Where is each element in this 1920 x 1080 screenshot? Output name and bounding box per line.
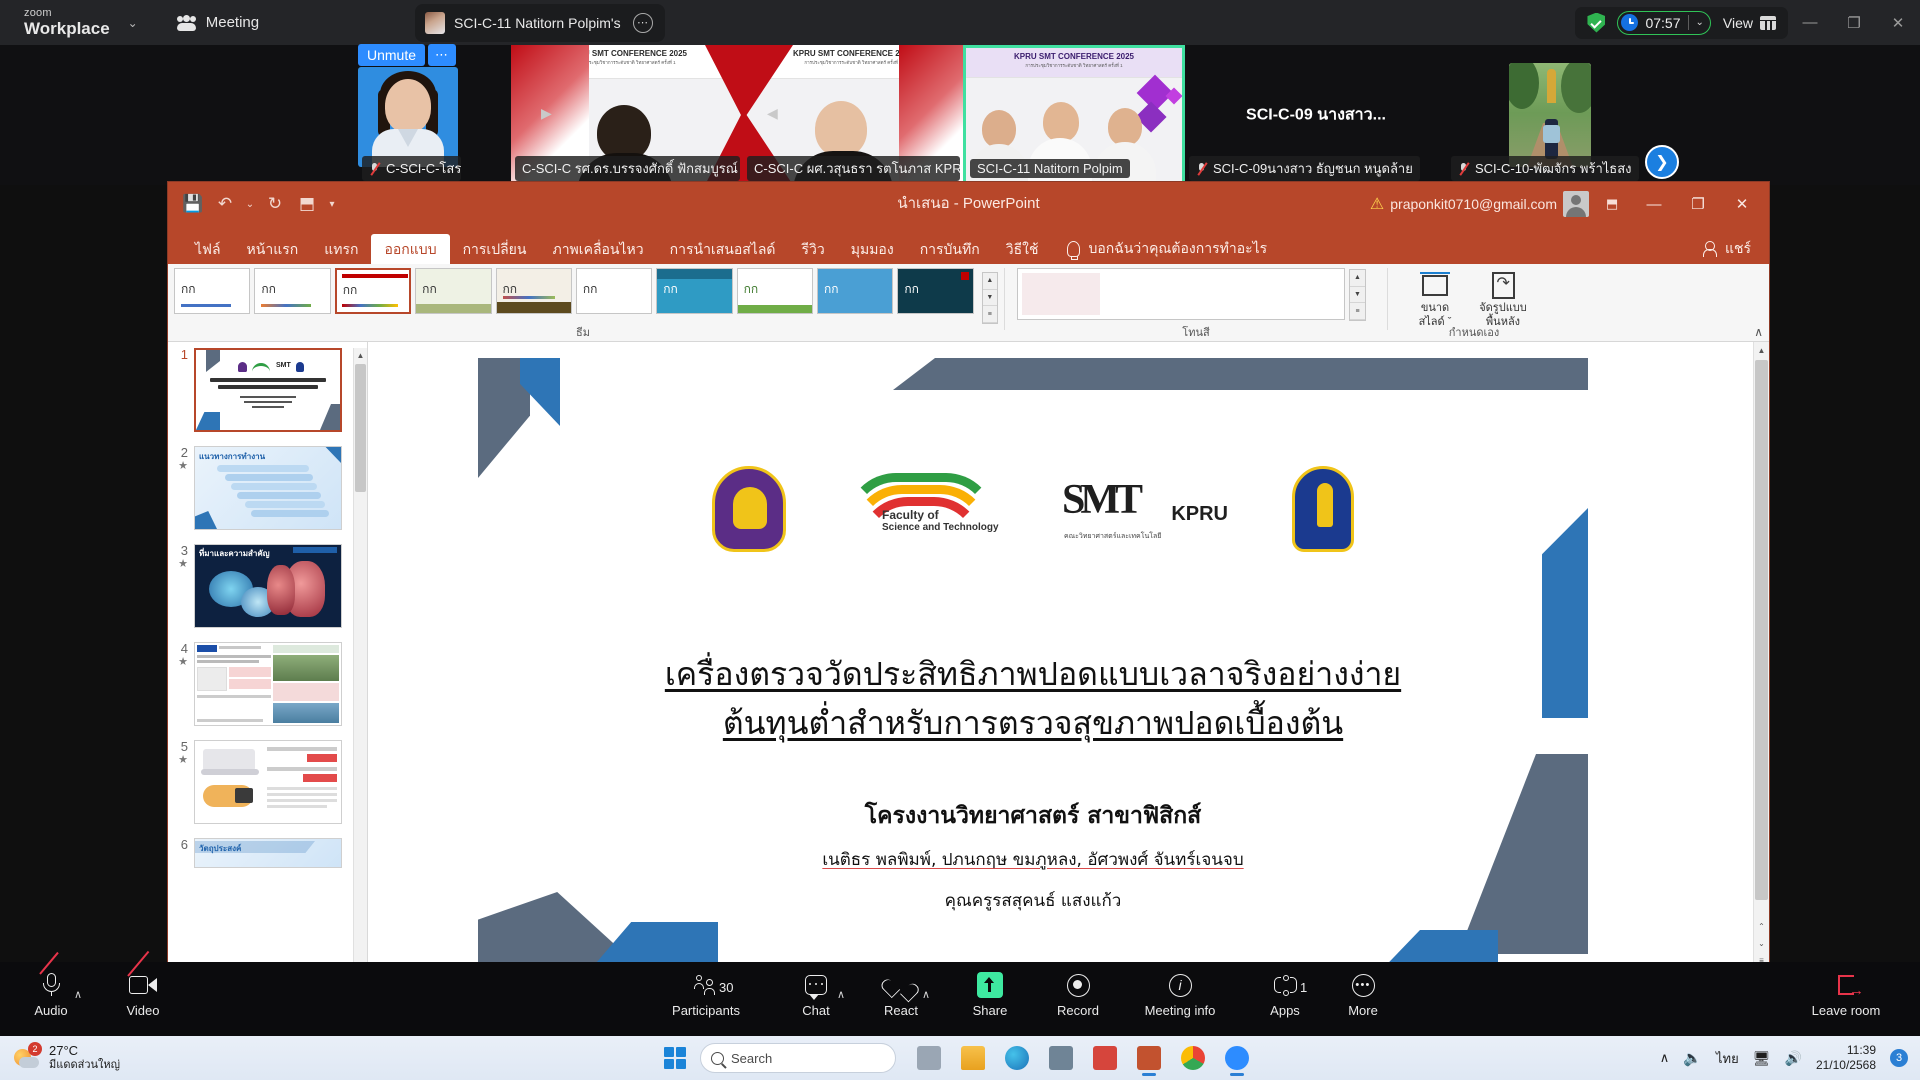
toolbar-apps-label: Apps [1242, 1003, 1328, 1018]
taskbar-system-tray: ∧ 🔈 ไทย 🖥 🔊 11:39 21/10/2568 3 [1660, 1043, 1908, 1073]
video-tile-6-name: SCI-C-10-พัฒจักร พร้าไธสง [1475, 158, 1632, 179]
leave-icon: → [1796, 970, 1896, 1000]
taskbar-app-edge[interactable] [998, 1039, 1036, 1077]
slide-preview-4[interactable] [194, 642, 342, 726]
toolbar-share-label: Share [947, 1003, 1033, 1018]
faculty-logo-text-line2: Science and Technology [882, 522, 999, 533]
weather-description: มีแดดส่วนใหญ่ [49, 1059, 120, 1073]
meeting-timer-value: 07:57 [1645, 15, 1680, 31]
variant-swatch-1[interactable] [1022, 273, 1100, 315]
theme-thumb-10-label: กก [904, 280, 919, 299]
zoom-maximize-button[interactable]: ❐ [1832, 0, 1876, 45]
toolbar-share-button[interactable]: Share [947, 970, 1033, 1018]
lightbulb-icon [1067, 241, 1080, 257]
slide-preview-1[interactable]: SMT [194, 348, 342, 432]
participants-count-badge: 30 [719, 980, 733, 995]
zoom-brand-bottom: Workplace [24, 20, 110, 37]
torch-emblem-logo [1292, 466, 1354, 552]
slide-5-animation-star-icon: ★ [172, 754, 188, 766]
powerpoint-titlebar-right: ⚠ praponkit0710@gmail.com ⬒ — ❐ ✕ [1370, 182, 1761, 226]
theme-thumb-7[interactable]: กก [656, 268, 732, 314]
slide-thumbnail-5[interactable]: 5 ★ [168, 740, 353, 824]
view-button-label: View [1723, 15, 1753, 31]
conference-banner-subtitle: การประชุมวิชาการระดับชาติ วิทยาศาสตร์ คร… [578, 59, 675, 66]
taskbar-center-group: Search [664, 1039, 1256, 1077]
slide-scroll-thumb[interactable] [1755, 360, 1768, 900]
tray-microphone-icon[interactable]: 🔈 [1683, 1049, 1702, 1067]
ribbon-tab-insert[interactable]: แทรก [311, 234, 371, 264]
video-tile-5-name: SCI-C-09นางสาว ธัญชนก หนูดล้าย [1213, 158, 1413, 179]
slide-title-line-1: เครื่องตรวจวัดประสิทธิภาพปอดแบบเวลาจริงอ… [538, 650, 1528, 699]
leave-room-button[interactable]: → Leave room [1796, 970, 1896, 1018]
zoom-logo: zoom Workplace [24, 8, 110, 37]
toolbar-video-button[interactable]: Video [100, 970, 186, 1018]
zoom-titlebar: zoom Workplace ⌄ Meeting SCI-C-11 Natito… [0, 0, 1920, 45]
slide-title-line-2: ต้นทุนต่ำสำหรับการตรวจสุขภาพปอดเบื้องต้น [538, 699, 1528, 748]
meeting-tab[interactable]: Meeting [176, 14, 259, 31]
clock-date: 21/10/2568 [1816, 1058, 1876, 1073]
powerpoint-window: 💾 ↶ ⌄ ↻ ⬒ ▾ นำเสนอ - PowerPoint ⚠ prapon… [168, 182, 1769, 972]
chat-chevron-up-icon[interactable]: ∧ [837, 988, 845, 1001]
slide-thumbnail-6[interactable]: 6 วัตถุประสงค์ [168, 838, 353, 868]
collapse-ribbon-icon[interactable]: ∧ [1754, 325, 1763, 339]
taskbar-app-zoom[interactable] [1218, 1039, 1256, 1077]
next-page-arrow-icon[interactable]: ❯ [1645, 145, 1679, 179]
participant-avatar-photo [358, 67, 458, 167]
faculty-science-technology-logo: Faculty of Science and Technology [846, 473, 1002, 545]
zoom-meeting-toolbar: Audio ∧ Video Participants 30 Chat ∧ Rea… [0, 962, 1920, 1036]
powerpoint-workspace: 1 SMT [168, 342, 1769, 972]
slide-logo-row: Faculty of Science and Technology SMT KP… [478, 466, 1588, 552]
taskbar-search-box[interactable]: Search [700, 1043, 896, 1073]
warning-icon[interactable]: ⚠ [1370, 194, 1384, 214]
search-placeholder: Search [731, 1051, 772, 1066]
toolbar-apps-button[interactable]: Apps 1 [1242, 970, 1328, 1018]
slide-preview-5[interactable] [194, 740, 342, 824]
slide-preview-3[interactable]: ที่มาและความสำคัญ [194, 544, 342, 628]
ribbon-group-themes: กก กก กก กก [168, 264, 998, 342]
apps-icon [1274, 975, 1297, 996]
variants-scroll-down-icon[interactable]: ▼ [1350, 287, 1365, 304]
themes-scroll-up-icon[interactable]: ▲ [983, 273, 997, 290]
camera-muted-icon [129, 976, 157, 994]
unmute-button[interactable]: Unmute [358, 44, 425, 66]
toolbar-audio-label: Audio [8, 1003, 94, 1018]
muted-mic-icon [1196, 162, 1208, 175]
theme-thumb-9[interactable]: กก [817, 268, 893, 314]
shield-icon[interactable] [1587, 13, 1605, 33]
slide-number-4-value: 4 [181, 641, 188, 656]
slide-thumbnail-3[interactable]: 3 ★ ที่มาและความสำคัญ [168, 544, 353, 628]
slide-thumbnail-list: 1 SMT [168, 348, 353, 972]
kpru-university-logo [712, 466, 786, 552]
slide-number-3: 3 ★ [172, 544, 188, 570]
toolbar-more-button[interactable]: ••• More [1320, 970, 1406, 1018]
share-session-label: SCI-C-11 Natitorn Polpim's screen [454, 15, 624, 31]
ribbon-divider [1387, 268, 1388, 330]
video-tile-2[interactable]: KPRU SMT CONFERENCE 2025 การประชุมวิชากา… [511, 45, 743, 185]
theme-thumb-1[interactable]: กก [174, 268, 250, 314]
ribbon-divider [1004, 268, 1005, 330]
participants-icon [694, 975, 718, 995]
slide-number-4: 4 ★ [172, 642, 188, 668]
participant-video-strip: Unmute ⋯ C-SCI-C-โสรยา กล่ำจีน KPRU SMT … [0, 45, 1920, 185]
ribbon-group-themes-label: ธีม [168, 323, 998, 341]
conference-banner-subtitle: การประชุมวิชาการระดับชาติ วิทยาศาสตร์ คร… [1025, 62, 1122, 69]
slide-number-5: 5 ★ [172, 740, 188, 766]
ribbon-tab-slideshow[interactable]: การนำเสนอสไลด์ [657, 234, 789, 264]
heart-icon [890, 975, 912, 995]
slide-project-type: โครงงานวิทยาศาสตร์ สาขาฟิสิกส์ [538, 798, 1528, 834]
ribbon-display-options-icon[interactable]: ⬒ [1595, 189, 1629, 219]
theme-thumb-2-label: กก [261, 280, 276, 299]
muted-mic-icon [369, 162, 381, 175]
current-slide[interactable]: Faculty of Science and Technology SMT KP… [478, 358, 1588, 984]
smt-logo-subtitle: คณะวิทยาศาสตร์และเทคโนโลยี [1064, 531, 1161, 542]
toolbar-participants-label: Participants [663, 1003, 749, 1018]
variants-scroll-up-icon[interactable]: ▲ [1350, 270, 1365, 287]
ribbon-tab-recording[interactable]: การบันทึก [907, 234, 993, 264]
next-slide-icon[interactable]: ⌄ [1755, 935, 1768, 952]
video-tile-4-name: SCI-C-11 Natitorn Polpim [977, 161, 1123, 176]
zoom-titlebar-right: 07:57 ⌄ View — ❐ ✕ [1575, 0, 1920, 45]
account-avatar[interactable] [1563, 191, 1589, 217]
taskbar-app-store[interactable] [1042, 1039, 1080, 1077]
slide-number-6: 6 [172, 838, 188, 852]
video-tile-2-nametag: C-SCI-C รศ.ดร.บรรจงศักดิ์ ฟักสมบูรณ์ [515, 156, 740, 181]
notification-badge[interactable]: 3 [1890, 1049, 1908, 1067]
video-tile-3-name: C-SCI-C ผศ.วสุนธรา รตโนภาส KPRU [754, 158, 960, 179]
slide-scroll-up-icon[interactable]: ▲ [1754, 342, 1769, 358]
video-tile-6-nametag: SCI-C-10-พัฒจักร พร้าไธสง [1451, 156, 1639, 181]
video-tile-1-name: C-SCI-C-โสรยา กล่ำจีน [386, 158, 461, 179]
zoom-workspace-chevron-down-icon[interactable]: ⌄ [128, 16, 138, 30]
ribbon-tab-transitions[interactable]: การเปลี่ยน [450, 234, 540, 264]
ribbon-group-variants: ▲ ▼ ≡ โทนสี [1011, 264, 1381, 342]
video-tile-4-nametag: SCI-C-11 Natitorn Polpim [970, 159, 1130, 178]
toolbar-meeting-info-button[interactable]: i Meeting info [1120, 970, 1240, 1018]
faculty-logo-text-line1: Faculty of [882, 509, 999, 522]
theme-thumb-5[interactable]: กก [496, 268, 572, 314]
theme-thumb-10[interactable]: กก [897, 268, 973, 314]
muted-mic-icon [1458, 162, 1470, 175]
unmute-popup: Unmute ⋯ [358, 44, 456, 66]
participant-photo [1509, 63, 1591, 167]
slide-3-animation-star-icon: ★ [172, 558, 188, 570]
taskbar-app-task-view[interactable] [910, 1039, 948, 1077]
video-tile-5-nametag: SCI-C-09นางสาว ธัญชนก หนูดล้าย [1189, 156, 1420, 181]
powerpoint-restore-button[interactable]: ❐ [1679, 182, 1717, 226]
toolbar-react-button[interactable]: React ∧ [858, 970, 944, 1018]
conference-banner-title: KPRU SMT CONFERENCE 2025 [1014, 52, 1134, 61]
zoom-brand-top: zoom [24, 8, 110, 19]
slide-subtitle-block[interactable]: โครงงานวิทยาศาสตร์ สาขาฟิสิกส์ เนติธร พล… [538, 798, 1528, 914]
theme-thumb-9-label: กก [824, 280, 839, 299]
share-screen-icon [977, 972, 1003, 998]
powerpoint-titlebar: 💾 ↶ ⌄ ↻ ⬒ ▾ นำเสนอ - PowerPoint ⚠ prapon… [168, 182, 1769, 226]
theme-thumb-4-label: กก [422, 280, 437, 299]
theme-thumb-3-label: กก [343, 281, 358, 300]
toolbar-participants-button[interactable]: Participants 30 [663, 970, 749, 1018]
ribbon-group-customize-label: กำหนดเอง [1394, 323, 1554, 341]
slide-preview-2[interactable]: แนวทางการทำงาน [194, 446, 342, 530]
toolbar-chat-button[interactable]: Chat ∧ [773, 970, 859, 1018]
slide-number-3-value: 3 [181, 543, 188, 558]
previous-slide-icon[interactable]: ⌃ [1755, 918, 1768, 935]
slide-number-1: 1 [172, 348, 188, 362]
leave-room-label: Leave room [1796, 1003, 1896, 1018]
slide-size-label-line1: ขนาด [1404, 302, 1466, 316]
react-chevron-up-icon[interactable]: ∧ [922, 988, 930, 1001]
toolbar-meeting-info-label: Meeting info [1120, 1003, 1240, 1018]
ribbon-tab-home[interactable]: หน้าแรก [234, 234, 312, 264]
stopwatch-icon [1621, 14, 1638, 31]
variants-gallery[interactable] [1017, 268, 1345, 320]
tell-me-search[interactable]: บอกฉันว่าคุณต้องการทำอะไร [1067, 234, 1267, 264]
slide-title-block[interactable]: เครื่องตรวจวัดประสิทธิภาพปอดแบบเวลาจริงอ… [538, 650, 1528, 747]
slide-size-icon [1422, 275, 1448, 296]
tray-network-icon[interactable]: 🖥 [1753, 1050, 1771, 1067]
slide-thumbnail-1[interactable]: 1 SMT [168, 348, 353, 432]
video-tile-1[interactable]: Unmute ⋯ C-SCI-C-โสรยา กล่ำจีน [358, 45, 460, 185]
apps-badge: 1 [1300, 980, 1307, 995]
ribbon-tab-animations[interactable]: ภาพเคลื่อนไหว [539, 234, 656, 264]
share-person-icon [1703, 241, 1719, 257]
video-tile-2-name: C-SCI-C รศ.ดร.บรรจงศักดิ์ ฟักสมบูรณ์ [522, 158, 738, 179]
clock-time: 11:39 [1816, 1043, 1876, 1058]
format-background-button[interactable]: จัดรูปแบบ พื้นหลัง [1472, 270, 1534, 330]
weather-text: 27°C มีแดดส่วนใหญ่ [49, 1043, 120, 1073]
ribbon-design-tab-content: กก กก กก กก [168, 264, 1769, 342]
powerpoint-minimize-button[interactable]: — [1635, 182, 1673, 226]
ribbon-tab-design[interactable]: ออกแบบ [371, 234, 449, 264]
windows-taskbar: 2 27°C มีแดดส่วนใหญ่ Search [0, 1036, 1920, 1080]
toolbar-chat-label: Chat [773, 1003, 859, 1018]
screen-root: zoom Workplace ⌄ Meeting SCI-C-11 Natito… [0, 0, 1920, 1080]
ribbon-group-customize: ขนาด สไลด์ ˇ จัดรูปแบบ พื้นหลัง กำหนดเอง [1394, 264, 1554, 342]
slide-authors: เนติธร พลพิมพ์, ปภนกฤษ ขมภูหลง, อัศวพงศ์… [538, 846, 1528, 873]
record-icon [1067, 974, 1090, 997]
share-session-tab[interactable]: SCI-C-11 Natitorn Polpim's screen ⋯ [415, 4, 665, 42]
thumbnail-scroll-up-icon[interactable]: ▲ [354, 348, 367, 362]
tray-volume-icon[interactable]: 🔊 [1785, 1050, 1802, 1067]
chat-icon [805, 975, 827, 995]
powerpoint-share-label: แชร์ [1725, 238, 1751, 260]
toolbar-record-button[interactable]: Record [1035, 970, 1121, 1018]
timer-chevron-down-icon[interactable]: ⌄ [1696, 17, 1704, 28]
taskbar-app-file-explorer[interactable] [954, 1039, 992, 1077]
security-timer-group: 07:57 ⌄ View [1575, 7, 1788, 39]
audio-chevron-up-icon[interactable]: ∧ [74, 988, 82, 1001]
share-session-thumbnail [425, 12, 445, 34]
theme-thumb-6-label: กก [583, 280, 598, 299]
slide-advisor: คุณครูรสสุคนธ์ แสงแก้ว [538, 887, 1528, 914]
slide-number-2: 2 ★ [172, 446, 188, 472]
weather-notification-badge: 2 [28, 1042, 42, 1056]
ribbon-tab-help[interactable]: วิธีใช้ [993, 234, 1052, 264]
grid-view-icon [1760, 16, 1776, 30]
themes-scroll-down-icon[interactable]: ▼ [983, 290, 997, 307]
ribbon-group-variants-label: โทนสี [1011, 323, 1381, 341]
slide-2-animation-star-icon: ★ [172, 460, 188, 472]
taskbar-clock[interactable]: 11:39 21/10/2568 [1816, 1043, 1876, 1073]
slide-thumbnail-4[interactable]: 4 ★ [168, 642, 353, 726]
thumbnail-scrollbar[interactable]: ▲ [353, 348, 367, 972]
theme-thumb-3-selected[interactable]: กก [335, 268, 411, 314]
zoom-minimize-button[interactable]: — [1788, 0, 1832, 45]
divider [1688, 15, 1689, 30]
video-tile-4-active-speaker[interactable]: KPRU SMT CONFERENCE 2025 การประชุมวิชากา… [963, 45, 1185, 185]
ribbon-tab-review[interactable]: รีวิว [789, 234, 838, 264]
ribbon-tab-view[interactable]: มุมมอง [838, 234, 907, 264]
account-email[interactable]: praponkit0710@gmail.com [1390, 196, 1557, 212]
slide-number-2-value: 2 [181, 445, 188, 460]
video-tile-3[interactable]: KPRU SMT CONFERENCE 2025 การประชุมวิชากา… [743, 45, 963, 185]
theme-thumb-8-label: กก [744, 280, 759, 299]
conference-banner-subtitle: การประชุมวิชาการระดับชาติ วิทยาศาสตร์ คร… [804, 59, 901, 66]
search-icon [711, 1052, 724, 1065]
slide-editing-stage: Faculty of Science and Technology SMT KP… [368, 342, 1769, 972]
more-icon: ••• [1352, 974, 1375, 997]
toolbar-react-label: React [858, 1003, 944, 1018]
weather-icon: 2 [14, 1045, 40, 1071]
slide-number-5-value: 5 [181, 739, 188, 754]
meeting-timer[interactable]: 07:57 ⌄ [1617, 11, 1710, 35]
meeting-tab-label: Meeting [206, 14, 259, 31]
windows-start-icon[interactable] [664, 1047, 686, 1069]
zoom-close-button[interactable]: ✕ [1876, 0, 1920, 45]
video-tile-1-nametag: C-SCI-C-โสรยา กล่ำจีน [362, 156, 461, 181]
taskbar-app-office[interactable] [1086, 1039, 1124, 1077]
theme-thumb-7-label: กก [663, 280, 678, 299]
video-tile-6[interactable]: SCI-C-10-พัฒจักร พร้าไธสง [1447, 45, 1677, 185]
slide-decoration-top-gray [893, 358, 1588, 390]
themes-gallery-more-icon[interactable]: ≡ [983, 306, 997, 323]
video-tile-5[interactable]: SCI-C-09 นางสาว... SCI-C-09นางสาว ธัญชนก… [1185, 45, 1447, 185]
tray-expand-chevron-up-icon[interactable]: ∧ [1660, 1050, 1670, 1066]
toolbar-video-label: Video [100, 1003, 186, 1018]
thumbnail-scroll-thumb[interactable] [355, 364, 366, 492]
slide-4-animation-star-icon: ★ [172, 656, 188, 668]
smt-logo-kpru-text: KPRU [1171, 503, 1228, 526]
taskbar-app-chrome[interactable] [1174, 1039, 1212, 1077]
conference-banner-title: KPRU SMT CONFERENCE 2025 [793, 49, 913, 58]
toolbar-audio-button[interactable]: Audio ∧ [8, 970, 94, 1018]
video-tile-3-nametag: C-SCI-C ผศ.วสุนธรา รตโนภาส KPRU [747, 156, 960, 181]
format-background-label-line1: จัดรูปแบบ [1472, 302, 1534, 316]
smt-conference-logo: SMT KPRU คณะวิทยาศาสตร์และเทคโนโลยี [1062, 476, 1232, 542]
smt-logo-text: SMT [1062, 477, 1138, 523]
powerpoint-close-button[interactable]: ✕ [1723, 182, 1761, 226]
ribbon-tab-file[interactable]: ไฟล์ [182, 234, 234, 264]
format-background-icon [1492, 272, 1515, 299]
taskbar-app-powerpoint[interactable] [1130, 1039, 1168, 1077]
themes-gallery-scrollbar[interactable]: ▲ ▼ ≡ [982, 272, 998, 324]
people-icon [176, 15, 196, 31]
slide-thumbnail-pane: 1 SMT [168, 342, 368, 972]
theme-thumb-6[interactable]: กก [576, 268, 652, 314]
toolbar-more-label: More [1320, 1003, 1406, 1018]
slide-size-button[interactable]: ขนาด สไลด์ ˇ [1404, 270, 1466, 330]
share-session-more-icon[interactable]: ⋯ [633, 13, 653, 33]
theme-thumb-4[interactable]: กก [415, 268, 491, 314]
theme-thumb-8[interactable]: กก [737, 268, 813, 314]
view-button[interactable]: View [1723, 15, 1776, 31]
variants-gallery-scrollbar[interactable]: ▲ ▼ ≡ [1349, 269, 1366, 321]
slide-vertical-scrollbar[interactable]: ▲ ⌃ ⌄ ≡ [1753, 342, 1769, 972]
theme-thumb-1-label: กก [181, 280, 196, 299]
conference-banner: KPRU SMT CONFERENCE 2025 การประชุมวิชากา… [966, 48, 1182, 78]
theme-thumb-2[interactable]: กก [254, 268, 330, 314]
powerpoint-share-button[interactable]: แชร์ [1703, 238, 1751, 260]
taskbar-weather-widget[interactable]: 2 27°C มีแดดส่วนใหญ่ [14, 1043, 120, 1073]
slide-thumbnail-2[interactable]: 2 ★ แนวทางการทำงาน [168, 446, 353, 530]
tell-me-label: บอกฉันว่าคุณต้องการทำอะไร [1088, 238, 1267, 260]
variants-gallery-more-icon[interactable]: ≡ [1350, 303, 1365, 320]
tile-more-icon[interactable]: ⋯ [428, 44, 456, 66]
toolbar-record-label: Record [1035, 1003, 1121, 1018]
microphone-muted-icon [43, 973, 59, 997]
themes-gallery: กก กก กก กก [168, 264, 998, 324]
slide-preview-6[interactable]: วัตถุประสงค์ [194, 838, 342, 868]
tray-language-indicator[interactable]: ไทย [1716, 1048, 1739, 1069]
info-icon: i [1169, 974, 1192, 997]
video-tile-5-center-name: SCI-C-09 นางสาว... [1246, 103, 1386, 128]
weather-temperature: 27°C [49, 1043, 120, 1059]
ribbon-tab-bar: ไฟล์ หน้าแรก แทรก ออกแบบ การเปลี่ยน ภาพเ… [168, 226, 1769, 264]
